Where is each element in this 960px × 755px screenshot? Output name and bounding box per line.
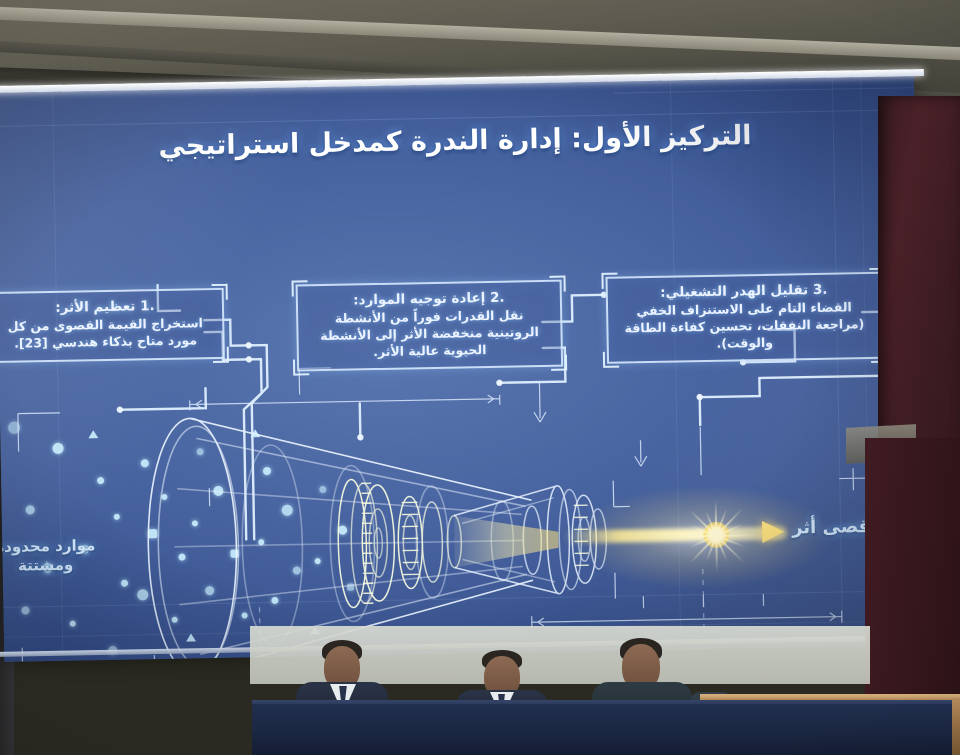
info-box-reallocate-resources: .2 إعادة توجيه الموارد: نقل القدرات فورا… xyxy=(296,280,564,372)
projection-screen: التركيز الأول: إدارة الندرة كمدخل استرات… xyxy=(0,75,924,662)
info-box-2-body: نقل القدرات فوراً من الأنشطة الروتينية م… xyxy=(307,307,552,362)
blueprint-gridline xyxy=(614,87,914,93)
impact-starburst-icon xyxy=(678,496,755,573)
panel-foreground xyxy=(0,612,960,755)
conference-table xyxy=(252,704,952,755)
input-label: موارد محدودة ومشتتة xyxy=(0,536,111,576)
output-label: أقصى أثر xyxy=(792,516,877,539)
info-box-maximize-impact: .1 تعظيم الأثر: استخراج القيمة القصوى من… xyxy=(0,288,225,363)
info-box-1-body: استخراج القيمة القصوى من كل مورد متاح بذ… xyxy=(0,315,214,352)
info-box-3-body: القضاء التام على الاستنزاف الخفي (مراجعة… xyxy=(617,299,872,354)
info-box-reduce-waste: .3 تقليل الهدر التشغيلي: القضاء التام عل… xyxy=(605,272,883,364)
slide-surface: التركيز الأول: إدارة الندرة كمدخل استرات… xyxy=(0,75,924,662)
info-box-3-header: .3 تقليل الهدر التشغيلي: xyxy=(617,281,871,302)
info-box-2-header: .2 إعادة توجيه الموارد: xyxy=(307,289,551,309)
output-arrow-icon xyxy=(762,521,784,543)
screenshot-root: التركيز الأول: إدارة الندرة كمدخل استرات… xyxy=(0,0,960,755)
info-box-1-header: .1 تعظيم الأثر: xyxy=(0,297,213,317)
